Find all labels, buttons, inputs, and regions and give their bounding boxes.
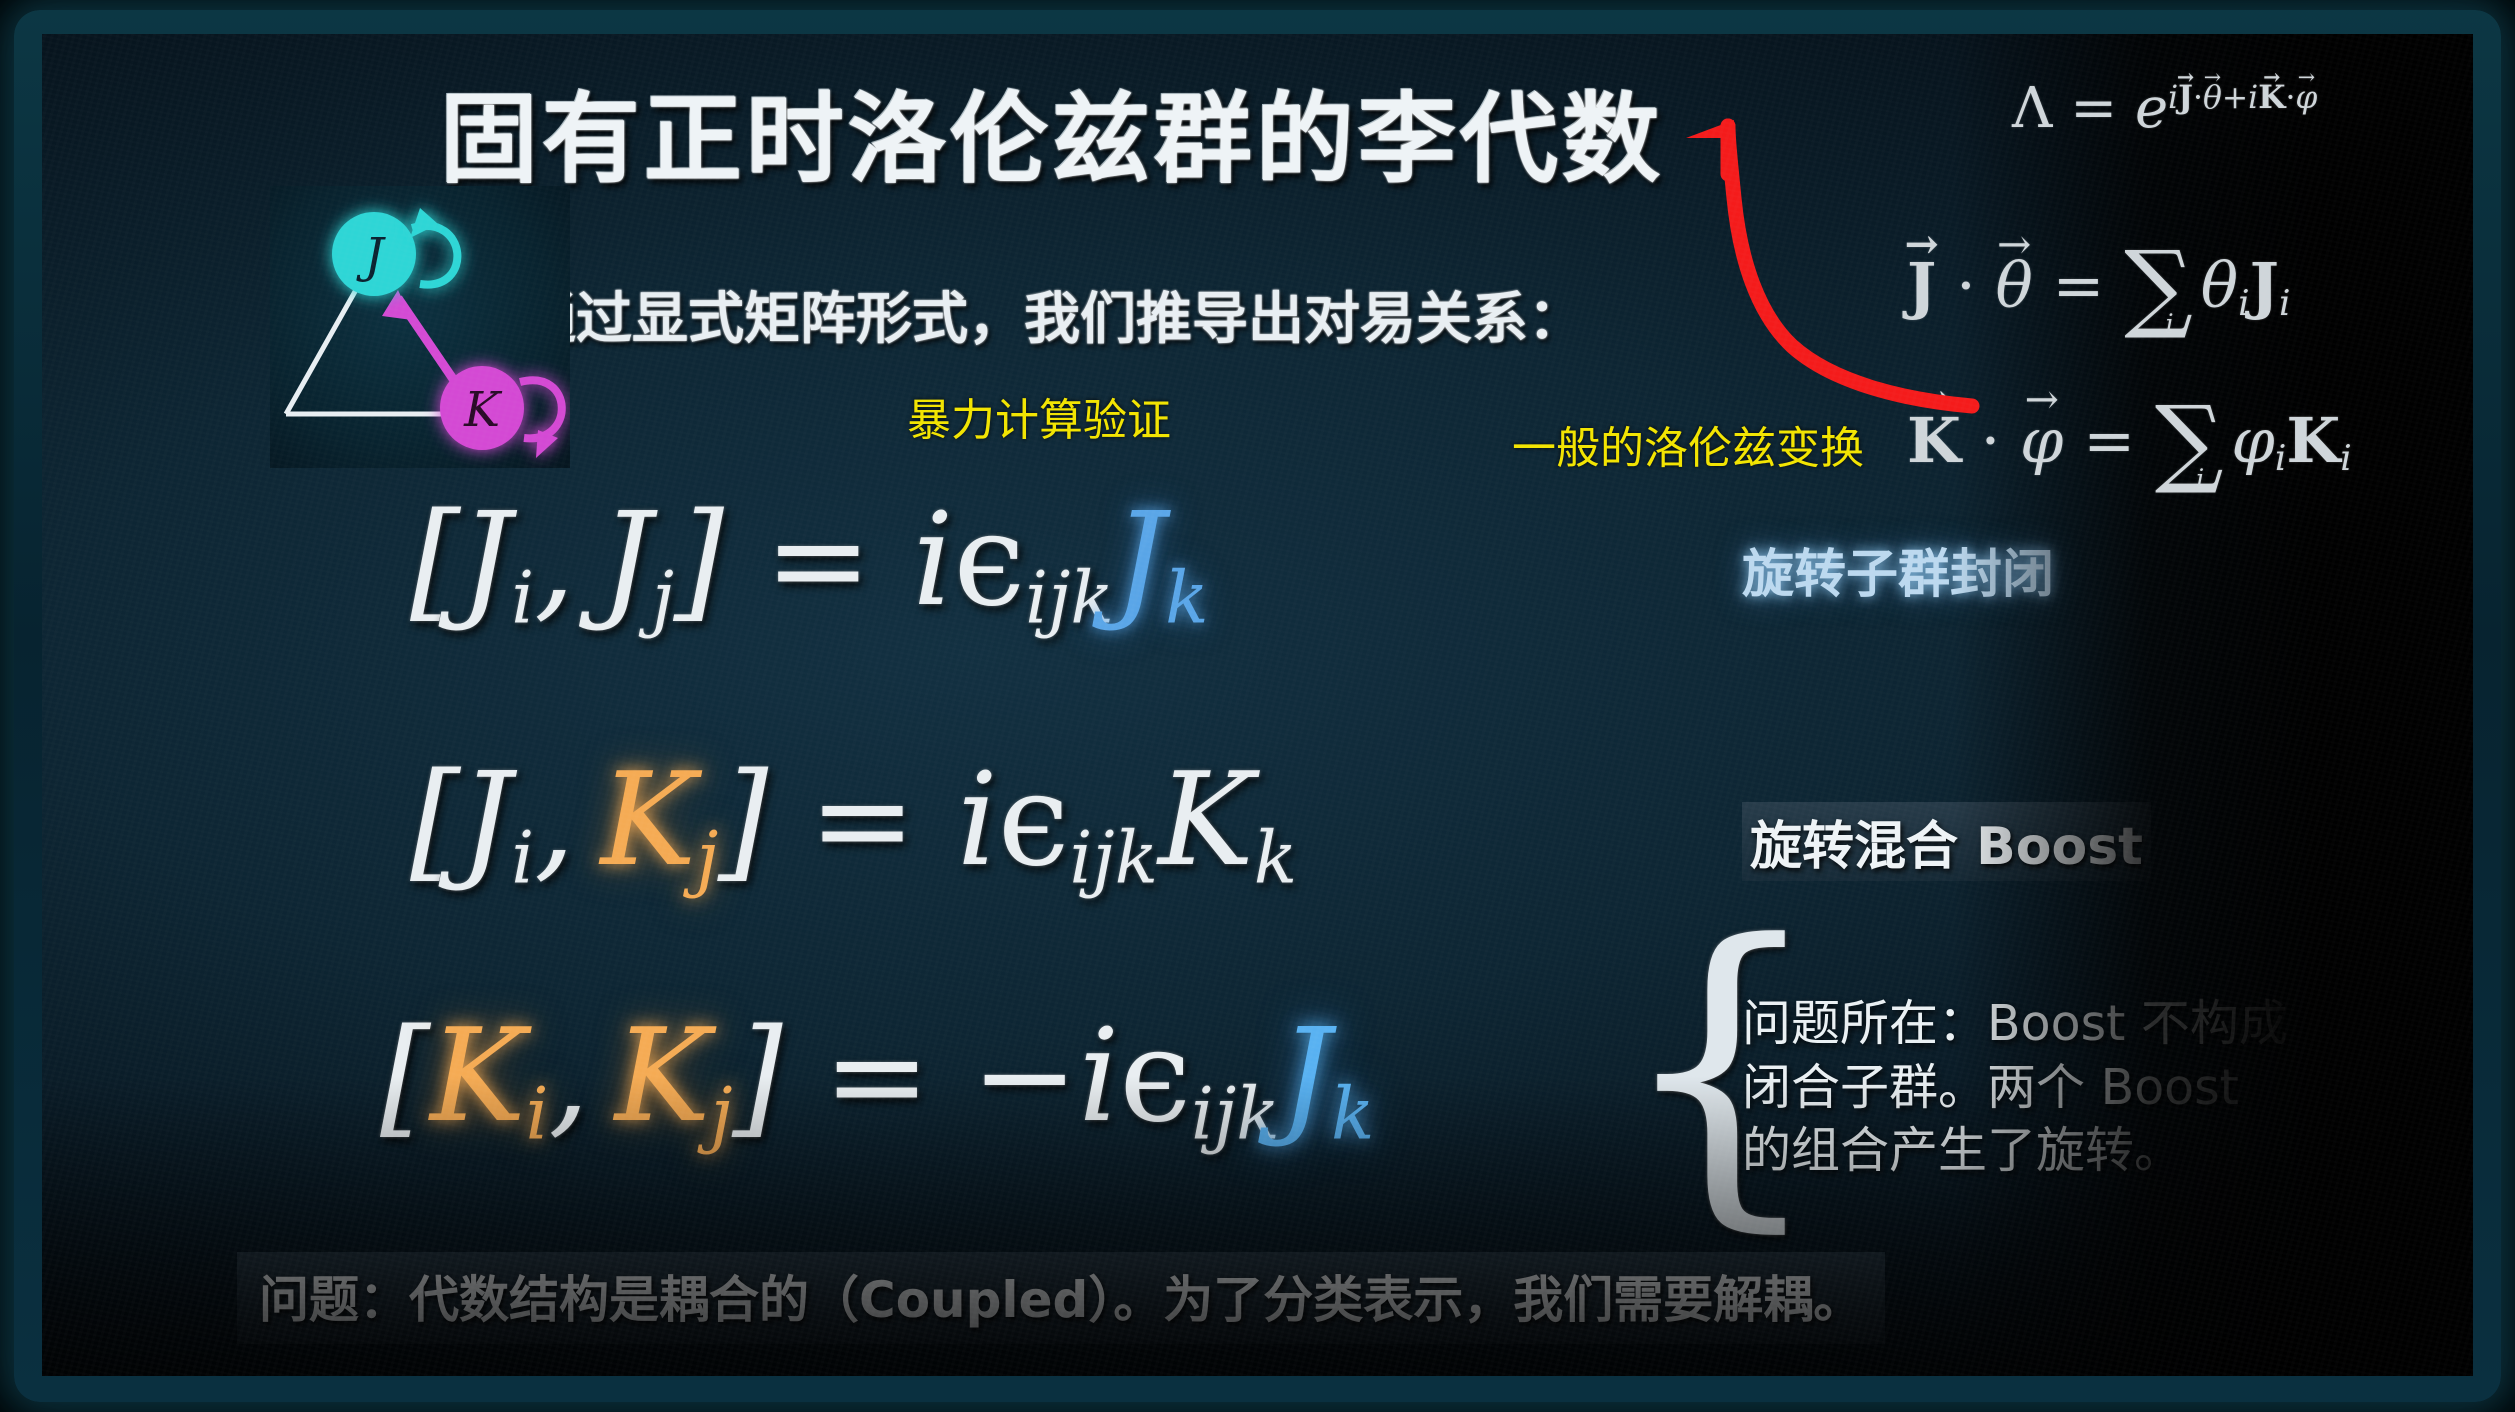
exp-theta-vector: θ xyxy=(2203,80,2222,116)
eq1-epsilon-sub: ijk xyxy=(1025,556,1114,640)
arrowhead-self-loop-j xyxy=(410,208,438,238)
eq3-operator-a-sub: i xyxy=(526,1072,549,1156)
formula-lambda-exponential: Λ = eiJ·θ+iK·φ xyxy=(2012,76,2317,141)
kdp-k-operator-sub: i xyxy=(2340,438,2352,479)
page-title: 固有正时洛伦兹群的李代数 xyxy=(342,60,1762,202)
jdt-theta-coef: θ xyxy=(2201,249,2238,322)
kdp-phi-coef-sub: i xyxy=(2275,438,2287,479)
eq2-rhs-operator: K xyxy=(1158,746,1254,895)
eq3-operator-a: K xyxy=(430,1002,526,1151)
formula-j-dot-theta: J · θ = ∑iθiJi xyxy=(1907,249,2290,324)
eq1-bracket-close: ] xyxy=(674,486,724,635)
exp-phi-vector: φ xyxy=(2295,80,2317,116)
kdp-phi-coef: φ xyxy=(2231,404,2274,477)
annotation-general-lorentz: 一般的洛伦兹变换 xyxy=(1512,412,1864,476)
formula-k-dot-phi: K · φ = ∑iφiKi xyxy=(1907,404,2352,479)
eq3-bracket-open: [ xyxy=(380,1002,430,1151)
kdp-k-operator: K xyxy=(2286,404,2340,477)
eq2-comma: , xyxy=(534,746,575,895)
eq3-epsilon: ϵ xyxy=(1119,1002,1191,1151)
jdt-sum-symbol: ∑ xyxy=(2124,230,2193,342)
eq2-bracket-open: [ xyxy=(410,746,460,895)
equation-jk-commutator: [Ji, Kj] = iϵijkKk xyxy=(410,746,1297,900)
eq1-equals: = xyxy=(765,486,872,635)
eq2-epsilon: ϵ xyxy=(998,746,1070,895)
eq3-rhs-operator: J xyxy=(1280,1002,1331,1151)
eq1-bracket-open: [ xyxy=(410,486,460,635)
annotation-brute-force: 暴力计算验证 xyxy=(907,384,1171,448)
kdp-phi-vector: φ xyxy=(2020,404,2063,477)
slide-stage: 固有正时洛伦兹群的李代数 通过显式矩阵形式，我们推导出对易关系： xyxy=(0,0,2515,1412)
callout-line-1: 问题所在：Boost 不构成 xyxy=(1742,992,2442,1056)
eq3-epsilon-sub: ijk xyxy=(1191,1072,1280,1156)
kdp-sum-symbol: ∑ xyxy=(2155,385,2224,497)
eq1-epsilon: ϵ xyxy=(953,486,1025,635)
exp-k-vector: K xyxy=(2258,80,2285,116)
jdt-dot: · xyxy=(1956,249,1976,322)
lambda-exponent: iJ·θ+iK·φ xyxy=(2168,80,2317,116)
slide-canvas: 固有正时洛伦兹群的李代数 通过显式矩阵形式，我们推导出对易关系： xyxy=(42,34,2473,1376)
jdt-equals: = xyxy=(2053,249,2105,322)
eq1-operator-b-sub: j xyxy=(652,556,674,640)
exp-j-vector: J xyxy=(2178,80,2193,116)
self-loop-j xyxy=(412,226,457,285)
eq2-epsilon-sub: ijk xyxy=(1069,816,1158,900)
self-loop-k xyxy=(520,380,562,438)
eq1-rhs-prefix: i xyxy=(913,486,954,635)
lambda-symbol: Λ xyxy=(2012,76,2052,141)
callout-paragraph: 问题所在：Boost 不构成 闭合子群。两个 Boost 的组合产生了旋转。 xyxy=(1742,992,2442,1183)
eq1-operator-a: J xyxy=(460,486,511,635)
eq1-comma: , xyxy=(534,486,575,635)
jdt-j-operator-sub: i xyxy=(2279,283,2291,324)
callout-line-3: 的组合产生了旋转。 xyxy=(1742,1119,2442,1183)
eq3-operator-b-sub: j xyxy=(710,1072,732,1156)
eq2-rhs-prefix: i xyxy=(957,746,998,895)
equation-kk-commutator: [Ki, Kj] = −iϵijkJk xyxy=(380,1002,1374,1156)
eq2-operator-b-sub: j xyxy=(696,816,718,900)
lambda-equals: = xyxy=(2070,76,2117,141)
eq3-operator-b: K xyxy=(615,1002,711,1151)
jdt-theta-vector: θ xyxy=(1996,249,2033,322)
eq2-rhs-operator-sub: k xyxy=(1254,816,1297,900)
jk-graph-thumbnail: J K xyxy=(270,186,570,468)
eq1-operator-a-sub: i xyxy=(511,556,534,640)
jdt-theta-coef-sub: i xyxy=(2238,283,2250,324)
node-k-label: K xyxy=(463,382,503,438)
callout-line-2: 闭合子群。两个 Boost xyxy=(1742,1056,2442,1120)
kdp-k-vector: K xyxy=(1907,404,1961,477)
kdp-sum-index: i xyxy=(2196,464,2204,493)
arrowhead-self-loop-k xyxy=(536,430,558,458)
eq3-comma: , xyxy=(549,1002,590,1151)
eq3-equals: = xyxy=(823,1002,930,1151)
jdt-j-vector: J xyxy=(1907,249,1936,322)
page-subtitle: 通过显式矩阵形式，我们推导出对易关系： xyxy=(372,274,1732,355)
exp-i2: i xyxy=(2248,80,2258,116)
eq3-bracket-close: ] xyxy=(733,1002,783,1151)
eq2-equals: = xyxy=(809,746,916,895)
eq3-rhs-operator-sub: k xyxy=(1331,1072,1374,1156)
jk-graph-svg: J K xyxy=(270,186,570,468)
equation-jj-commutator: [Ji, Jj] = iϵijkJk xyxy=(410,486,1209,640)
eq1-rhs-operator: J xyxy=(1114,486,1165,635)
exp-dot1: · xyxy=(2193,80,2203,116)
exp-plus: + xyxy=(2222,80,2248,116)
label-rotation-mixes-boost: 旋转混合 Boost xyxy=(1742,802,2151,881)
eq1-operator-b: J xyxy=(600,486,651,635)
eq2-operator-a: J xyxy=(460,746,511,895)
exp-dot2: · xyxy=(2285,80,2295,116)
bottom-banner: 问题：代数结构是耦合的（Coupled）。为了分类表示，我们需要解耦。 xyxy=(237,1252,1885,1344)
eq2-bracket-close: ] xyxy=(718,746,768,895)
jdt-j-operator: J xyxy=(2250,249,2279,322)
label-rotation-subgroup-closed: 旋转子群封闭 xyxy=(1742,532,2054,607)
kdp-equals: = xyxy=(2083,404,2135,477)
eq2-operator-a-sub: i xyxy=(511,816,534,900)
eq1-rhs-operator-sub: k xyxy=(1165,556,1208,640)
eq2-operator-b: K xyxy=(600,746,696,895)
kdp-dot: · xyxy=(1981,404,2001,477)
eq3-rhs-prefix: −i xyxy=(971,1002,1119,1151)
lambda-base: e xyxy=(2135,76,2168,141)
jdt-sum-index: i xyxy=(2166,309,2174,338)
